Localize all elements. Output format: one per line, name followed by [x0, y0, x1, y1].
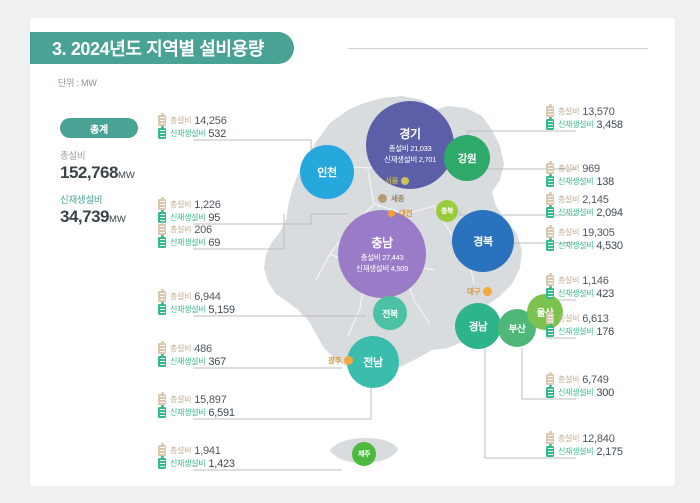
total-value: 15,897 — [194, 394, 226, 406]
renew-label: 신재생설비 — [558, 446, 593, 457]
bubble-chungnam[interactable]: 충남 총설비 27,443신재생설비 4,509 — [338, 210, 426, 298]
callout-renew-row: 신재생설비 138 — [546, 175, 676, 188]
renew-value: 138 — [596, 176, 614, 188]
callout-total-row: 총설비 12,840 — [546, 432, 676, 445]
total-capacity-icon — [158, 199, 166, 210]
renew-label: 신재생설비 — [558, 240, 593, 251]
renewable-capacity-icon — [546, 119, 554, 130]
callout-total-row: 총설비 19,305 — [546, 226, 676, 239]
total-value: 1,941 — [194, 445, 221, 457]
callout-jeonnam: 총설비 15,897 신재생설비 6,591 — [158, 393, 288, 419]
callout-renew-row: 신재생설비 69 — [158, 236, 288, 249]
callout-total-row: 총설비 6,749 — [546, 373, 676, 386]
renew-value: 1,423 — [208, 458, 235, 470]
total-label: 총설비 — [170, 445, 191, 456]
renew-value: 2,094 — [596, 207, 623, 219]
infographic-card: 3. 2024년도 지역별 설비용량 단위 : MW 총계 총설비 152,76… — [30, 18, 675, 486]
total-label: 총설비 — [170, 291, 191, 302]
total-label: 총설비 — [170, 224, 191, 235]
callout-renew-row: 신재생설비 1,423 — [158, 457, 288, 470]
total-value: 2,145 — [582, 194, 609, 206]
callout-ulsan: 총설비 6,613 신재생설비 176 — [546, 312, 676, 338]
dot-marker-gwangju[interactable]: 광주 — [328, 355, 353, 366]
total-capacity-icon — [546, 433, 554, 444]
callout-renew-row: 신재생설비 367 — [158, 355, 288, 368]
total-label: 총설비 — [170, 199, 191, 210]
renewable-capacity-icon — [158, 407, 166, 418]
renew-label: 신재생설비 — [170, 212, 205, 223]
total-value: 6,613 — [582, 313, 609, 325]
renew-label: 신재생설비 — [558, 176, 593, 187]
callout-gangwon: 총설비 13,570 신재생설비 3,458 — [546, 105, 676, 131]
callout-renew-row: 신재생설비 6,591 — [158, 406, 288, 419]
total-label: 총설비 — [558, 374, 579, 385]
renew-label: 신재생설비 — [558, 119, 593, 130]
total-label: 총설비 — [170, 343, 191, 354]
callout-renew-row: 신재생설비 532 — [158, 127, 288, 140]
renew-value: 176 — [596, 326, 614, 338]
bubble-gyeonggi[interactable]: 경기 총설비 21,033신재생설비 2,701 — [366, 101, 454, 189]
renewable-capacity-icon — [546, 240, 554, 251]
callout-renew-row: 신재생설비 3,458 — [546, 118, 676, 131]
renew-label: 신재생설비 — [170, 458, 205, 469]
callout-jeonbuk: 총설비 6,944 신재생설비 5,159 — [158, 290, 288, 316]
callout-renew-row: 신재생설비 4,530 — [546, 239, 676, 252]
callout-gwangju: 총설비 486 신재생설비 367 — [158, 342, 288, 368]
callout-total-row: 총설비 14,256 — [158, 114, 288, 127]
total-value: 6,749 — [582, 374, 609, 386]
renewable-capacity-icon — [546, 288, 554, 299]
seoul-dot — [401, 177, 409, 185]
total-value: 19,305 — [582, 227, 614, 239]
renewable-capacity-icon — [546, 326, 554, 337]
bubble-jeonnam[interactable]: 전남 — [347, 336, 399, 388]
callout-total-row: 총설비 969 — [546, 162, 676, 175]
total-label: 총설비 — [170, 394, 191, 405]
renewable-capacity-icon — [158, 304, 166, 315]
total-value: 1,146 — [582, 275, 609, 287]
callout-chungbuk: 총설비 2,145 신재생설비 2,094 — [546, 193, 676, 219]
total-label: 총설비 — [170, 115, 191, 126]
total-capacity-icon — [546, 313, 554, 324]
renew-value: 69 — [208, 237, 220, 249]
renew-value: 300 — [596, 387, 614, 399]
renew-label: 신재생설비 — [558, 207, 593, 218]
callout-renew-row: 신재생설비 423 — [546, 287, 676, 300]
renew-value: 532 — [208, 128, 226, 140]
callout-total-row: 총설비 206 — [158, 223, 288, 236]
callout-renew-row: 신재생설비 300 — [546, 386, 676, 399]
callout-total-row: 총설비 6,944 — [158, 290, 288, 303]
daejeon-dot — [388, 210, 395, 217]
total-value: 6,944 — [194, 291, 221, 303]
callout-total-row: 총설비 2,145 — [546, 193, 676, 206]
bubble-chungbuk[interactable]: 충북 — [436, 200, 458, 222]
dot-marker-daejeon[interactable]: 대전 — [388, 208, 415, 219]
renew-value: 4,530 — [596, 240, 623, 252]
callout-daegu: 총설비 1,146 신재생설비 423 — [546, 274, 676, 300]
total-label: 총설비 — [558, 433, 579, 444]
total-value: 486 — [194, 343, 212, 355]
renewable-capacity-icon — [158, 458, 166, 469]
renewable-capacity-icon — [546, 176, 554, 187]
callout-total-row: 총설비 1,226 — [158, 198, 288, 211]
total-capacity-icon — [546, 227, 554, 238]
renew-value: 95 — [208, 212, 220, 224]
renew-label: 신재생설비 — [558, 326, 593, 337]
total-value: 206 — [194, 224, 212, 236]
callout-renew-row: 신재생설비 2,175 — [546, 445, 676, 458]
total-label: 총설비 — [558, 163, 579, 174]
renew-value: 367 — [208, 356, 226, 368]
bubble-incheon[interactable]: 인천 — [300, 145, 354, 199]
total-value: 14,256 — [194, 115, 226, 127]
callout-total-row: 총설비 486 — [158, 342, 288, 355]
total-capacity-icon — [158, 445, 166, 456]
gwangju-dot — [344, 356, 353, 365]
dot-marker-sejong[interactable]: 세종 — [378, 193, 407, 204]
renew-value: 6,591 — [208, 407, 235, 419]
total-capacity-icon — [158, 394, 166, 405]
callout-renew-row: 신재생설비 176 — [546, 325, 676, 338]
renew-label: 신재생설비 — [170, 356, 205, 367]
total-label: 총설비 — [558, 227, 579, 238]
callout-total-row: 총설비 15,897 — [158, 393, 288, 406]
total-label: 총설비 — [558, 106, 579, 117]
callout-daejeon: 총설비 206 신재생설비 69 — [158, 223, 288, 249]
bubble-gyeongbuk[interactable]: 경북 — [452, 210, 514, 272]
total-capacity-icon — [158, 224, 166, 235]
total-capacity-icon — [546, 194, 554, 205]
dot-marker-daegu[interactable]: 대구 — [467, 286, 492, 297]
renew-value: 5,159 — [208, 304, 235, 316]
total-value: 12,840 — [582, 433, 614, 445]
total-capacity-icon — [546, 374, 554, 385]
callout-total-row: 총설비 13,570 — [546, 105, 676, 118]
total-value: 969 — [582, 163, 600, 175]
renewable-capacity-icon — [158, 237, 166, 248]
bubble-jeonbuk[interactable]: 전북 — [373, 296, 407, 330]
callout-seoul: 총설비 969 신재생설비 138 — [546, 162, 676, 188]
callout-gyeongbuk: 총설비 19,305 신재생설비 4,530 — [546, 226, 676, 252]
renew-value: 423 — [596, 288, 614, 300]
callout-total-row: 총설비 6,613 — [546, 312, 676, 325]
renewable-capacity-icon — [546, 387, 554, 398]
total-capacity-icon — [546, 106, 554, 117]
callout-sejong: 총설비 1,226 신재생설비 95 — [158, 198, 288, 224]
renewable-capacity-icon — [158, 356, 166, 367]
bubble-gyeongnam[interactable]: 경남 — [455, 303, 501, 349]
sejong-dot — [378, 194, 387, 203]
renew-label: 신재생설비 — [170, 128, 205, 139]
total-capacity-icon — [158, 343, 166, 354]
renew-value: 2,175 — [596, 446, 623, 458]
renew-label: 신재생설비 — [558, 387, 593, 398]
renew-label: 신재생설비 — [170, 407, 205, 418]
dot-marker-seoul[interactable]: 서울 — [385, 175, 409, 186]
renew-value: 3,458 — [596, 119, 623, 131]
callout-total-row: 총설비 1,146 — [546, 274, 676, 287]
bubble-jeju[interactable]: 제주 — [352, 442, 376, 466]
callout-busan: 총설비 6,749 신재생설비 300 — [546, 373, 676, 399]
total-label: 총설비 — [558, 313, 579, 324]
renewable-capacity-icon — [546, 446, 554, 457]
bubble-gangwon[interactable]: 강원 — [444, 135, 490, 181]
total-capacity-icon — [546, 275, 554, 286]
total-value: 13,570 — [582, 106, 614, 118]
renew-label: 신재생설비 — [558, 288, 593, 299]
renewable-capacity-icon — [546, 207, 554, 218]
callout-renew-row: 신재생설비 5,159 — [158, 303, 288, 316]
callout-incheon: 총설비 14,256 신재생설비 532 — [158, 114, 288, 140]
callout-gyeongnam: 총설비 12,840 신재생설비 2,175 — [546, 432, 676, 458]
daegu-dot — [483, 287, 492, 296]
callout-renew-row: 신재생설비 2,094 — [546, 206, 676, 219]
total-label: 총설비 — [558, 194, 579, 205]
total-value: 1,226 — [194, 199, 221, 211]
total-label: 총설비 — [558, 275, 579, 286]
total-capacity-icon — [158, 291, 166, 302]
renewable-capacity-icon — [158, 128, 166, 139]
total-capacity-icon — [158, 115, 166, 126]
callout-jeju: 총설비 1,941 신재생설비 1,423 — [158, 444, 288, 470]
renew-label: 신재생설비 — [170, 304, 205, 315]
renew-label: 신재생설비 — [170, 237, 205, 248]
callout-total-row: 총설비 1,941 — [158, 444, 288, 457]
total-capacity-icon — [546, 163, 554, 174]
